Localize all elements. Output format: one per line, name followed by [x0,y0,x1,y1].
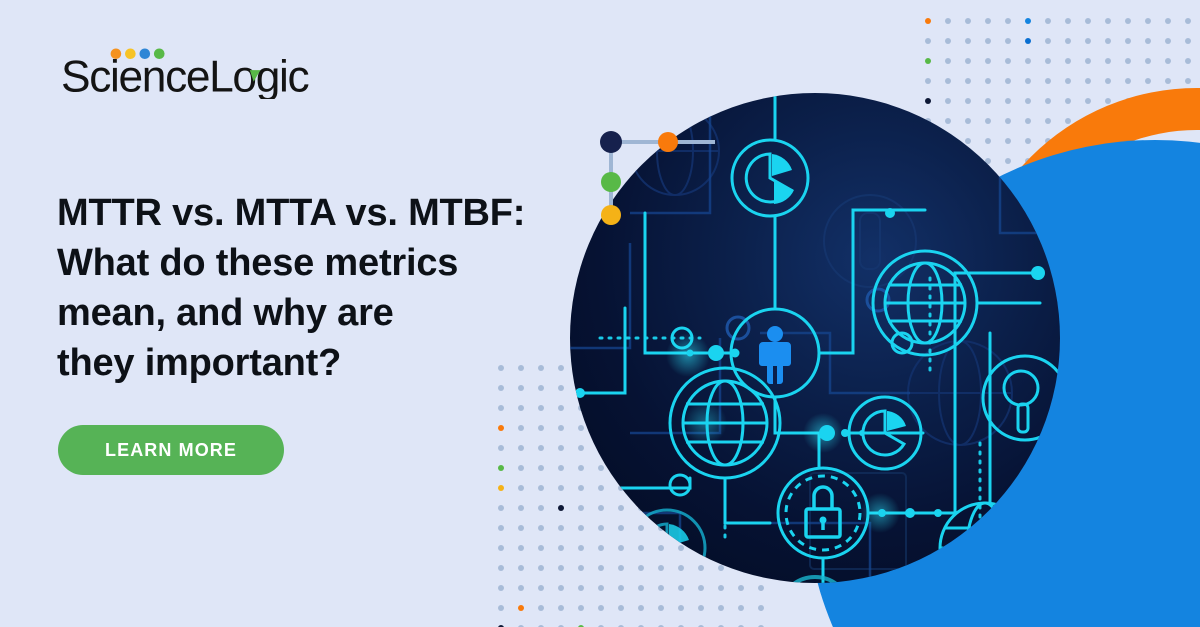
grid-dot [698,605,704,611]
pie-chart-icon [629,510,705,583]
grid-dot [618,585,624,591]
padlock-icon [778,468,868,558]
grid-dot [758,605,764,611]
grid-dot [985,58,991,64]
grid-dot [1085,58,1091,64]
grid-dot-accent [1025,18,1031,24]
grid-dot [678,605,684,611]
grid-dot [558,545,564,551]
grid-dot [1065,118,1071,124]
grid-dot [558,405,564,411]
globe-icon [940,503,1030,583]
green-node-icon [601,172,621,192]
grid-dot [1005,38,1011,44]
headline-line-1: MTTR vs. MTTA vs. MTBF: [57,188,557,238]
grid-dot [1145,58,1151,64]
grid-dot [1105,58,1111,64]
grid-dot [618,605,624,611]
grid-dot [1085,38,1091,44]
node-ring-dim [727,289,889,339]
sciencelogic-logo[interactable]: ScienceLogic [60,47,324,99]
grid-dot [965,18,971,24]
grid-dot [985,78,991,84]
grid-dot [1105,98,1111,104]
headline-line-2: What do these metrics [57,238,557,288]
key-icon [779,577,851,583]
grid-dot [558,485,564,491]
grid-dot [1125,38,1131,44]
grid-dot [1085,98,1091,104]
grid-dot [1125,18,1131,24]
grid-dot [558,585,564,591]
grid-dot [925,38,931,44]
grid-dot [718,605,724,611]
grid-dot [1085,18,1091,24]
grid-dot [965,78,971,84]
person-icon [731,309,819,397]
grid-dot [1185,38,1191,44]
social-card: ScienceLogic MTTR vs. MTTA vs. MTBF: Wha… [0,0,1200,627]
grid-dot [558,445,564,451]
headline-line-4: they important? [57,338,557,388]
grid-dot [1065,38,1071,44]
pie-chart-icon [732,140,808,216]
grid-dot [1105,18,1111,24]
grid-dot [1065,18,1071,24]
grid-dot [1185,58,1191,64]
grid-dot-accent [925,18,931,24]
grid-dot [558,385,564,391]
grid-dot [1145,38,1151,44]
grid-dot [1105,78,1111,84]
headline-line-3: mean, and why are [57,288,557,338]
grid-dot [1085,78,1091,84]
grid-dot [1165,58,1171,64]
grid-dot [658,605,664,611]
grid-dot [1065,78,1071,84]
grid-dot [558,465,564,471]
grid-dot [1025,58,1031,64]
grid-dot [945,78,951,84]
grid-dot [598,585,604,591]
grid-dot [678,585,684,591]
connector-nodes-group [595,130,725,260]
grid-dot [1145,78,1151,84]
grid-dot [1125,78,1131,84]
grid-dot [1105,38,1111,44]
grid-dot [1005,78,1011,84]
grid-dot [1125,58,1131,64]
grid-dot [965,38,971,44]
grid-dot [598,605,604,611]
globe-icon [873,251,977,355]
learn-more-button[interactable]: LEARN MORE [58,425,284,475]
grid-dot [738,585,744,591]
grid-dot [965,58,971,64]
grid-dot [698,585,704,591]
magnifier-icon [983,356,1060,440]
grid-dot-accent [925,58,931,64]
orange-node-icon [658,132,678,152]
grid-dot [1005,18,1011,24]
grid-dot-accent [1025,38,1031,44]
grid-dot [578,585,584,591]
navy-node-icon [600,131,622,153]
grid-dot [1045,58,1051,64]
content-column: ScienceLogic MTTR vs. MTTA vs. MTBF: Wha… [57,0,557,627]
grid-dot [925,78,931,84]
page-title: MTTR vs. MTTA vs. MTBF: What do these me… [57,188,557,388]
grid-dot [558,365,564,371]
grid-dot [1165,38,1171,44]
grid-dot [638,585,644,591]
grid-dot [1045,78,1051,84]
grid-dot [945,38,951,44]
grid-dot [1045,18,1051,24]
grid-dot [1005,58,1011,64]
grid-dot [945,58,951,64]
grid-dot [558,425,564,431]
grid-dot [1165,18,1171,24]
grid-dot [1065,98,1071,104]
globe-icon [670,368,780,478]
grid-dot [1025,78,1031,84]
grid-dot [1045,38,1051,44]
logo-wordmark: ScienceLogic [61,52,308,99]
grid-dot [985,38,991,44]
grid-dot [718,585,724,591]
dotted-traces [600,228,980,583]
grid-dot [1145,18,1151,24]
grid-dot [985,18,991,24]
grid-dot [1185,18,1191,24]
amber-node-icon [601,205,621,225]
grid-dot [638,605,644,611]
grid-dot [578,605,584,611]
grid-dot [558,565,564,571]
grid-dot-accent [558,505,564,511]
grid-dot [1165,78,1171,84]
grid-dot [738,605,744,611]
grid-dot [758,585,764,591]
grid-dot [1065,58,1071,64]
grid-dot [658,585,664,591]
grid-dot [558,605,564,611]
grid-dot [1185,78,1191,84]
grid-dot [558,525,564,531]
grid-dot [945,18,951,24]
